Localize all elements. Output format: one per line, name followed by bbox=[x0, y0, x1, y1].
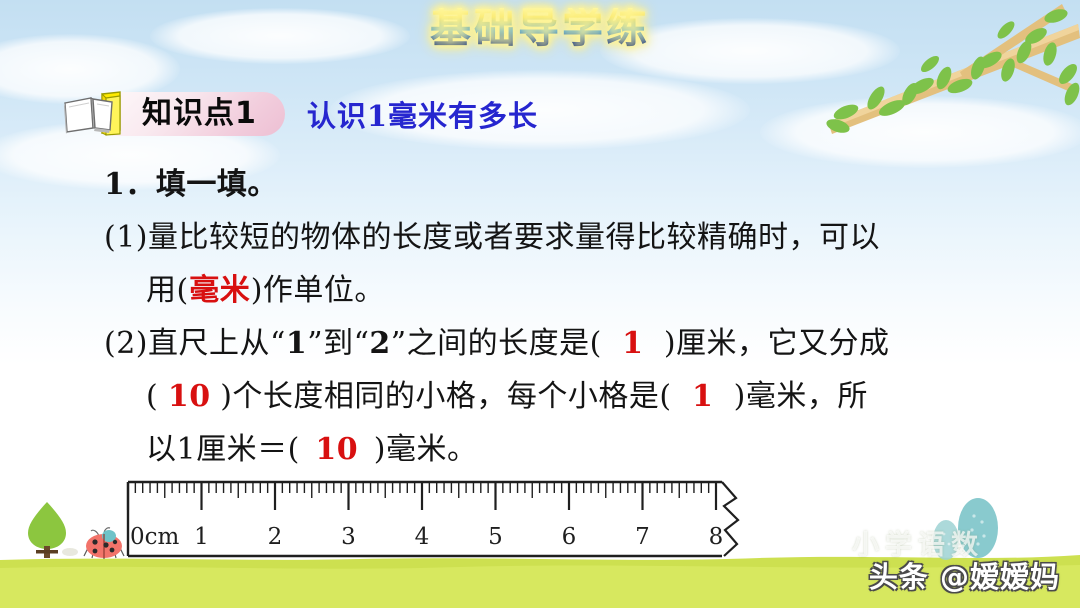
knowledge-point-badge[interactable]: 知识点1 bbox=[112, 92, 285, 136]
quote-close-1: ” bbox=[307, 326, 323, 361]
answer-blank-1[interactable]: 毫米 bbox=[189, 264, 251, 317]
answer-blank-2[interactable]: 1 bbox=[602, 317, 664, 370]
slide-title-container: 基础导学练 bbox=[0, 8, 1080, 66]
ladybug-icon bbox=[82, 526, 126, 560]
question-2-text-1b: 到 bbox=[323, 326, 354, 361]
question-2-text-3a: 以1厘米＝( bbox=[146, 432, 300, 467]
question-2-line-1: (2)直尺上从“1”到“2”之间的长度是(1)厘米，它又分成 bbox=[104, 317, 1054, 370]
question-2-line-3: 以1厘米＝(10)毫米。 bbox=[104, 423, 1054, 476]
question-1-line-1: (1)量比较短的物体的长度或者要求量得比较精确时，可以 bbox=[104, 211, 1054, 264]
open-book-icon bbox=[62, 90, 124, 138]
knowledge-point-topic: 认识1毫米有多长 bbox=[307, 93, 538, 135]
bush-icon bbox=[916, 492, 1008, 564]
question-1-marker: (1) bbox=[104, 220, 148, 255]
answer-blank-3[interactable]: 10 bbox=[158, 370, 220, 423]
question-2-text-2c: )毫米，所 bbox=[734, 379, 868, 414]
question-2-text-1c: 之间的长度是( bbox=[407, 326, 602, 361]
exercise-content: 1．填一填。 (1)量比较短的物体的长度或者要求量得比较精确时，可以 用(毫米)… bbox=[104, 158, 1054, 476]
page-title: 基础导学练 bbox=[430, 8, 650, 49]
pebble-icon bbox=[62, 548, 78, 556]
ruler-number-1: 1 bbox=[286, 326, 307, 361]
question-2-text-1d: )厘米，它又分成 bbox=[664, 326, 890, 361]
knowledge-point-label: 知识点1 bbox=[142, 99, 257, 129]
question-2-text-2a: ( bbox=[146, 379, 158, 414]
question-2-text-2b: )个长度相同的小格，每个小格是( bbox=[220, 379, 671, 414]
answer-blank-5[interactable]: 10 bbox=[300, 423, 374, 476]
exercise-heading: 1．填一填。 bbox=[104, 158, 1054, 211]
question-1-text-2b: )作单位。 bbox=[251, 273, 385, 308]
answer-blank-4[interactable]: 1 bbox=[672, 370, 734, 423]
ruler-number-2: 2 bbox=[369, 326, 390, 361]
quote-open-2: “ bbox=[354, 326, 370, 361]
slide-canvas: 基础导学练 知识点1 认识1毫米有多长 1．填一填。 (1)量比较短的物体的长度… bbox=[0, 0, 1080, 608]
question-2-text-1a: 直尺上从 bbox=[148, 326, 270, 361]
question-1-text-2a: 用( bbox=[146, 273, 189, 308]
question-2-line-2: (10)个长度相同的小格，每个小格是(1)毫米，所 bbox=[104, 370, 1054, 423]
question-1-text-1: 量比较短的物体的长度或者要求量得比较精确时，可以 bbox=[148, 220, 880, 255]
quote-close-2: ” bbox=[391, 326, 407, 361]
knowledge-point-header: 知识点1 认识1毫米有多长 bbox=[62, 86, 538, 142]
question-2-marker: (2) bbox=[104, 326, 148, 361]
question-1-line-2: 用(毫米)作单位。 bbox=[104, 264, 1054, 317]
quote-open-1: “ bbox=[270, 326, 286, 361]
question-2-text-3b: )毫米。 bbox=[374, 432, 478, 467]
